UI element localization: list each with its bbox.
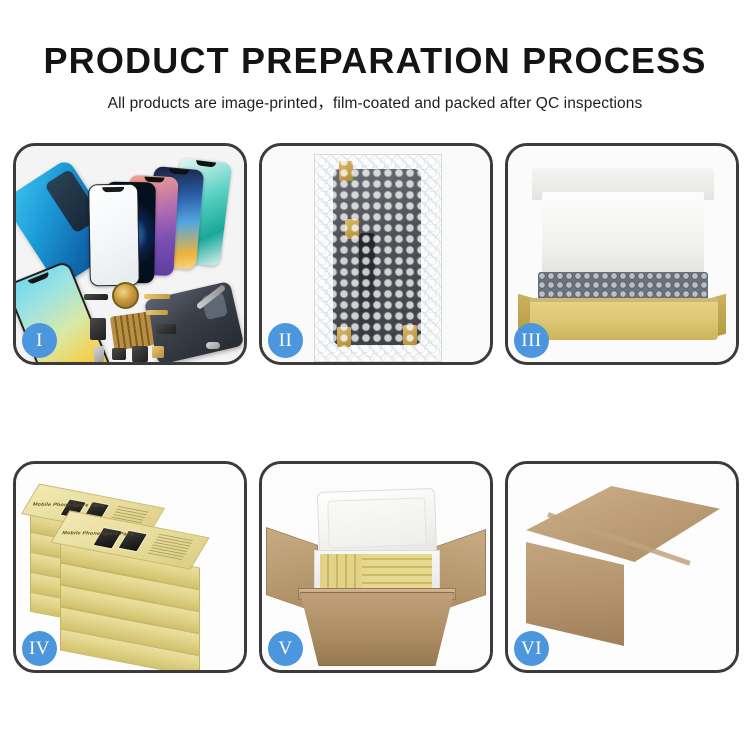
adhesive-tab-graphic — [339, 161, 353, 181]
foam-box-lid-graphic — [317, 488, 437, 558]
foam-sheet-graphic — [542, 192, 704, 276]
step-badge-6: VI — [514, 631, 549, 666]
small-part-graphic — [90, 318, 106, 340]
adhesive-tab-graphic — [337, 327, 351, 347]
page-subtitle: All products are image-printed，film-coat… — [0, 81, 750, 113]
speaker-coil-part-graphic — [112, 282, 139, 309]
flex-cable-part-graphic — [144, 294, 170, 299]
small-part-graphic — [156, 324, 176, 334]
carton-body-graphic — [300, 592, 454, 666]
box-brand-label: Mobile Phone Spare Parts — [32, 502, 106, 509]
process-step-panel-3[interactable]: III — [505, 143, 739, 365]
process-step-panel-4[interactable]: Mobile Phone Spare Parts Mobile Phone Sp… — [13, 461, 247, 673]
carton-right-face-graphic — [622, 516, 720, 642]
box-front-panel-graphic — [530, 298, 718, 340]
box-brand-label: Mobile Phone Spare Parts — [61, 530, 135, 537]
step-badge-2: II — [268, 323, 303, 358]
wrapped-screen-graphic — [333, 169, 421, 345]
box-spec-text-graphic — [148, 534, 194, 560]
step-badge-4: IV — [22, 631, 57, 666]
small-part-graphic — [84, 294, 108, 300]
phone-front-glass-graphic — [88, 184, 140, 287]
process-step-panel-5[interactable]: V — [259, 461, 493, 673]
process-step-panel-6[interactable]: VI — [505, 461, 739, 673]
chip-array-part-graphic — [110, 311, 154, 350]
small-part-graphic — [112, 348, 126, 360]
page-title: PRODUCT PREPARATION PROCESS — [0, 0, 750, 81]
notch-icon — [169, 168, 189, 175]
yellow-boxes-row-graphic — [362, 554, 432, 590]
notch-icon — [196, 160, 216, 167]
process-step-panel-1[interactable]: I — [13, 143, 247, 365]
step-badge-5: V — [268, 631, 303, 666]
adhesive-tab-graphic — [403, 325, 417, 345]
step-badge-3: III — [514, 323, 549, 358]
step-badge-1: I — [22, 323, 57, 358]
process-step-grid: I II III — [13, 143, 739, 673]
small-part-graphic — [152, 346, 164, 358]
wrapped-flex-cable-graphic — [359, 233, 375, 343]
small-part-graphic — [94, 346, 104, 362]
adhesive-tab-graphic — [345, 219, 359, 239]
page-header: PRODUCT PREPARATION PROCESS All products… — [0, 0, 750, 113]
screwdriver-tip-graphic — [206, 342, 220, 349]
bubble-wrap-bag-graphic — [314, 154, 442, 362]
flex-cable-part-graphic — [146, 310, 168, 315]
process-step-panel-2[interactable]: II — [259, 143, 493, 365]
small-part-graphic — [132, 346, 148, 362]
